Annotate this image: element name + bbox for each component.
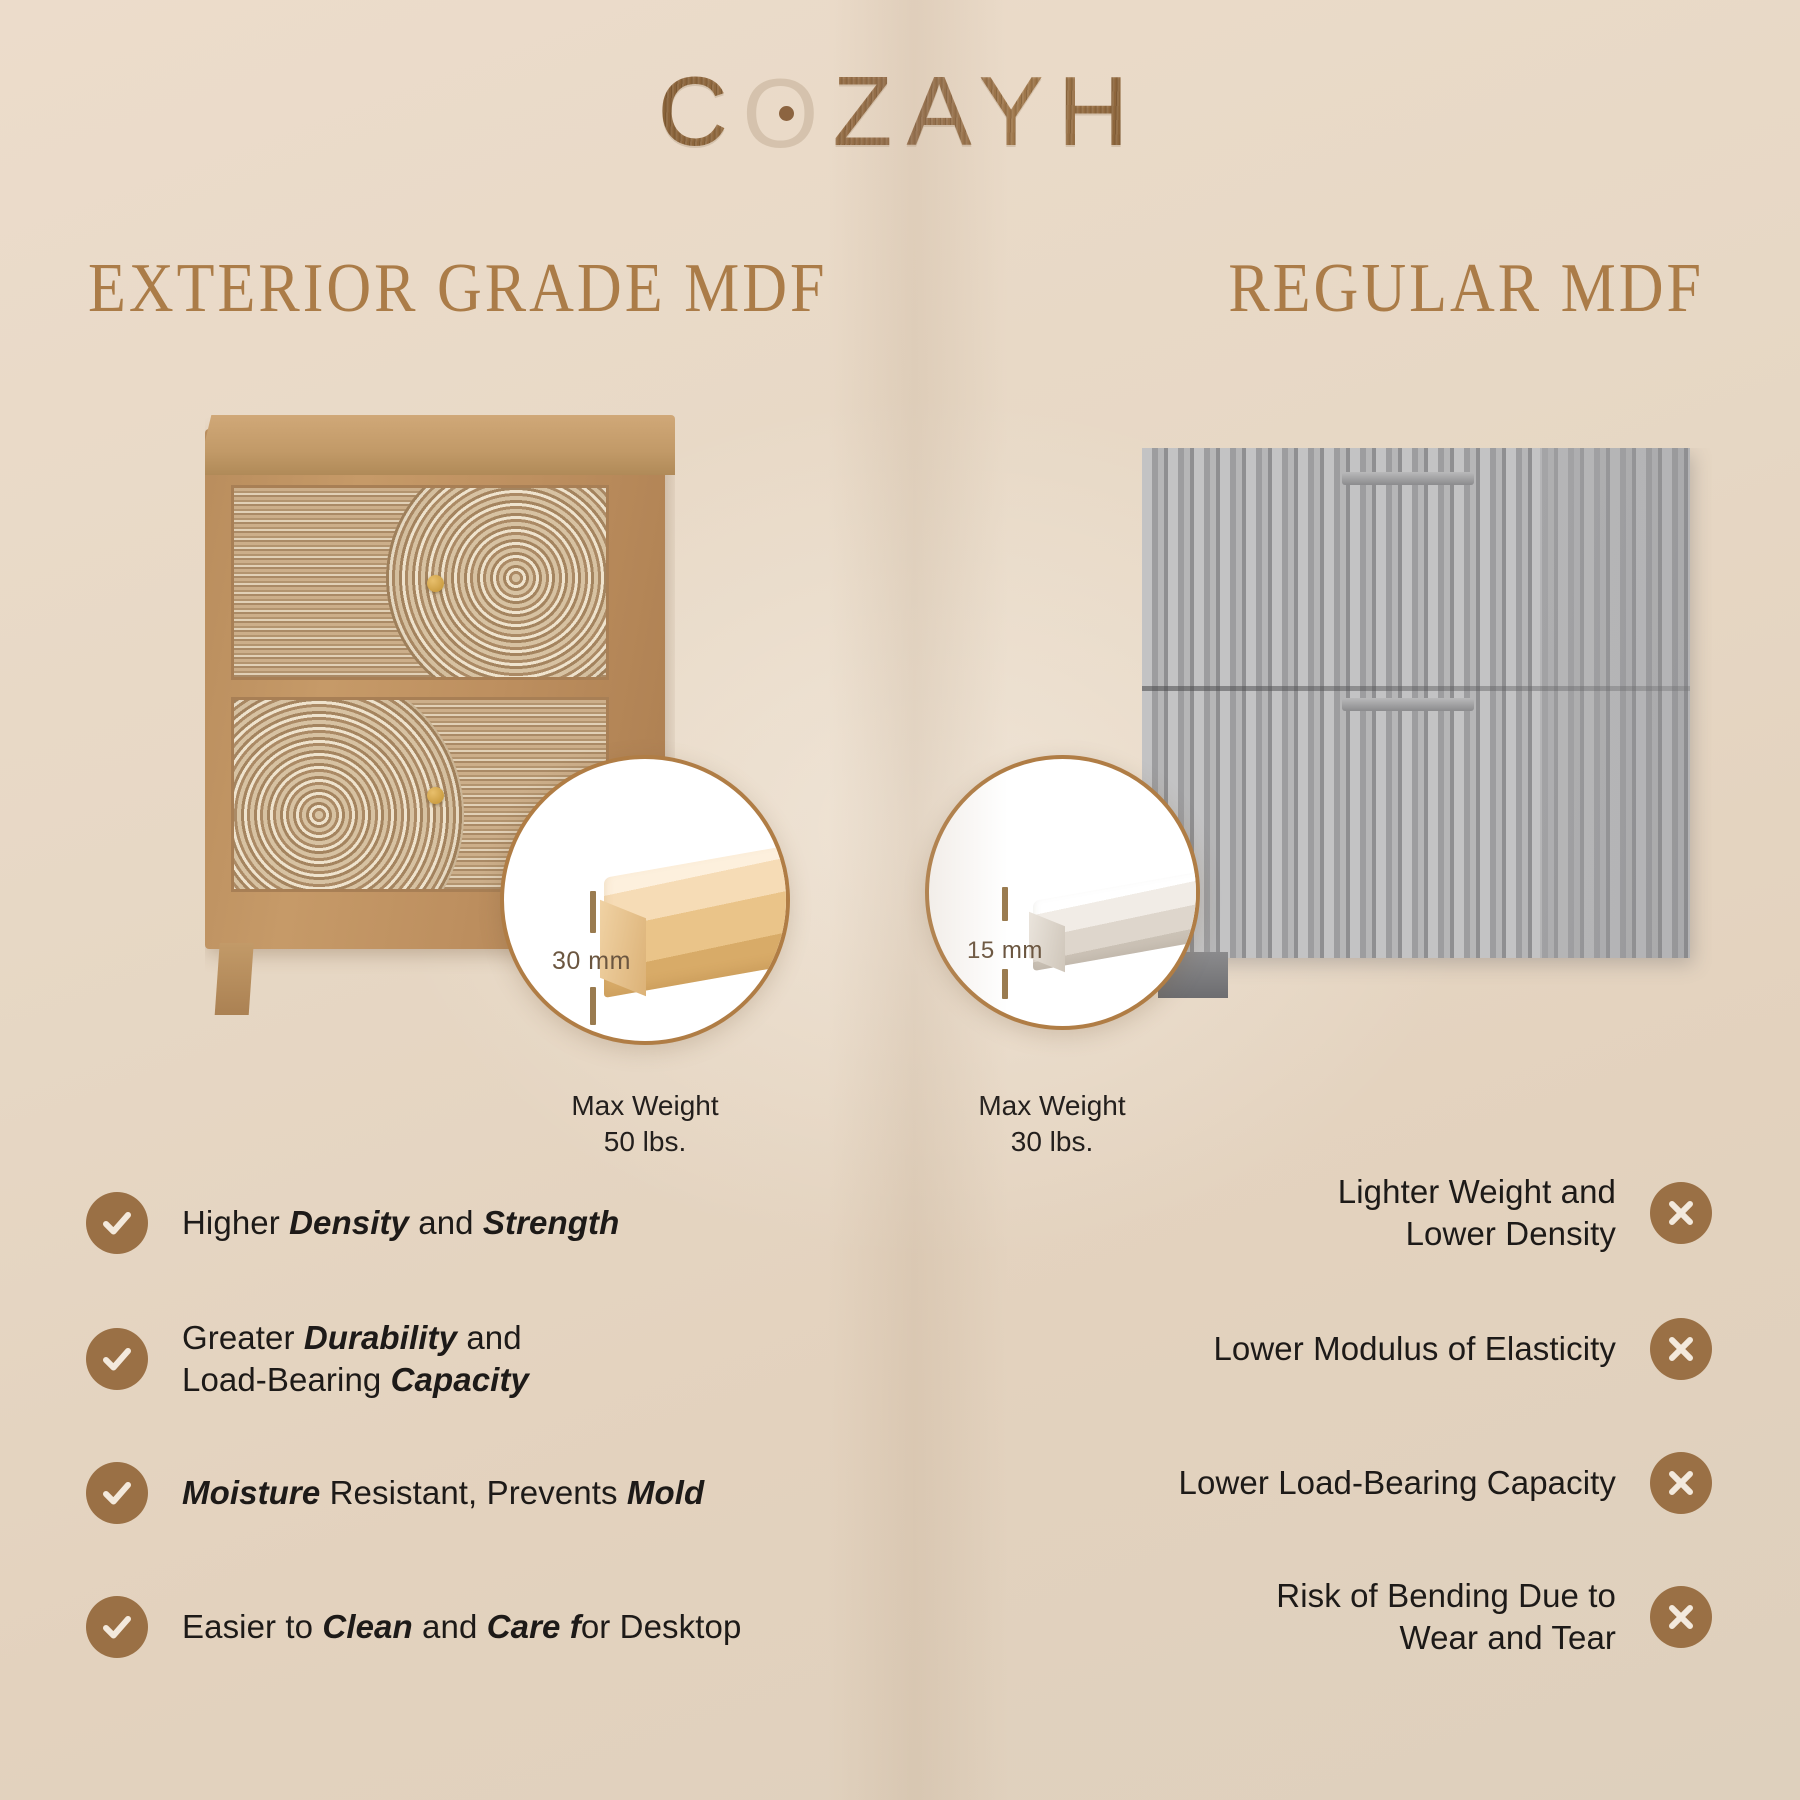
- feature-item: Lower Modulus of Elasticity: [922, 1301, 1712, 1397]
- feature-label: Lower Load-Bearing Capacity: [922, 1462, 1616, 1504]
- feature-label: Lower Modulus of Elasticity: [922, 1328, 1616, 1370]
- feature-item: Greater Durability andLoad-Bearing Capac…: [86, 1311, 886, 1407]
- logo-letter-o: O: [742, 62, 832, 160]
- feature-label: Moisture Resistant, Prevents Mold: [182, 1472, 704, 1514]
- feature-label: Higher Density and Strength: [182, 1202, 619, 1244]
- dresser-handle-lower: [1342, 698, 1474, 711]
- feature-list-exterior-grade: Higher Density and StrengthGreater Durab…: [86, 1175, 886, 1675]
- cross-icon: [1650, 1452, 1712, 1514]
- feature-item: Moisture Resistant, Prevents Mold: [86, 1445, 886, 1541]
- check-icon: [86, 1596, 148, 1658]
- measure-tick-icon: [590, 891, 596, 933]
- cross-icon: [1650, 1318, 1712, 1380]
- brand-logo: COZAYH: [0, 62, 1800, 160]
- logo-letter-h: H: [1058, 56, 1143, 166]
- feature-item: Lower Load-Bearing Capacity: [922, 1435, 1712, 1531]
- cross-icon: [1650, 1182, 1712, 1244]
- measure-tick-icon: [590, 987, 596, 1025]
- dresser-handle-upper: [1342, 472, 1474, 485]
- feature-label: Lighter Weight andLower Density: [922, 1171, 1616, 1254]
- check-icon: [86, 1328, 148, 1390]
- logo-letter-y: Y: [978, 56, 1057, 166]
- dresser-drawer-seam: [1142, 686, 1690, 691]
- measure-tick-icon: [1002, 887, 1008, 921]
- feature-item: Risk of Bending Due toWear and Tear: [922, 1569, 1712, 1665]
- product-image-regular-mdf: [1142, 448, 1712, 1018]
- feature-label: Greater Durability andLoad-Bearing Capac…: [182, 1317, 529, 1400]
- logo-letter-c: C: [657, 56, 742, 166]
- max-weight-left: Max Weight 50 lbs.: [505, 1088, 785, 1160]
- dresser-body: [1142, 448, 1690, 958]
- max-weight-right: Max Weight 30 lbs.: [912, 1088, 1192, 1160]
- logo-letter-a: A: [906, 56, 978, 166]
- cross-icon: [1650, 1586, 1712, 1648]
- feature-item: Higher Density and Strength: [86, 1175, 886, 1271]
- nightstand-drawer-upper: [231, 485, 609, 680]
- thickness-label-right: 15 mm: [967, 937, 1043, 965]
- nightstand-top: [205, 415, 675, 475]
- feature-list-regular-mdf: Lighter Weight andLower DensityLower Mod…: [922, 1165, 1712, 1665]
- feature-label: Easier to Clean and Care for Desktop: [182, 1606, 741, 1648]
- check-icon: [86, 1462, 148, 1524]
- drawer-knob-icon: [427, 575, 444, 592]
- feature-item: Lighter Weight andLower Density: [922, 1165, 1712, 1261]
- brand-logo-text: COZAYH: [657, 62, 1142, 160]
- column-heading-left: EXTERIOR GRADE MDF: [88, 249, 827, 329]
- measure-tick-icon: [1002, 969, 1008, 999]
- nightstand-leg-left: [214, 943, 253, 1015]
- infographic-page: COZAYH EXTERIOR GRADE MDF REGULAR MDF: [0, 0, 1800, 1800]
- thickness-callout-right: 15 mm: [925, 755, 1200, 1030]
- feature-item: Easier to Clean and Care for Desktop: [86, 1579, 886, 1675]
- thickness-callout-left: 30 mm: [500, 755, 790, 1045]
- drawer-arc-carving: [386, 485, 609, 680]
- logo-dot: [779, 106, 794, 121]
- column-heading-right: REGULAR MDF: [1228, 249, 1704, 329]
- drawer-knob-icon: [427, 787, 444, 804]
- thickness-label-left: 30 mm: [552, 947, 631, 976]
- check-icon: [86, 1192, 148, 1254]
- logo-letter-z: Z: [832, 56, 906, 166]
- dresser-side-panel: [1540, 448, 1690, 958]
- feature-label: Risk of Bending Due toWear and Tear: [922, 1575, 1616, 1658]
